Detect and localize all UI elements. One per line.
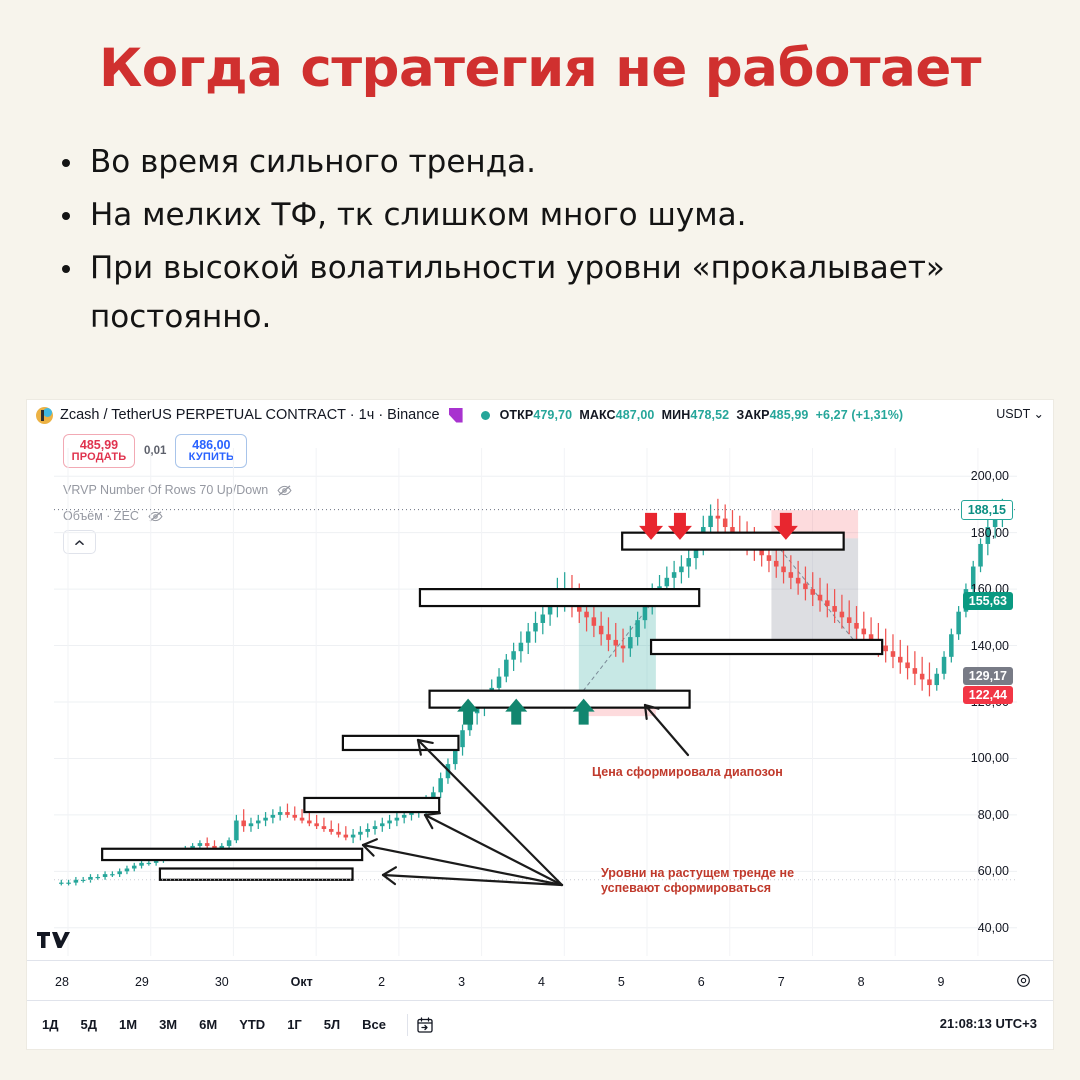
range-button[interactable]: 3М [156, 1015, 180, 1034]
price-plot-area[interactable] [54, 448, 1017, 956]
low-value: 478,52 [690, 408, 729, 422]
time-tick: 28 [55, 975, 69, 989]
candlestick-canvas [54, 448, 1017, 956]
price-badge[interactable]: 122,44 [963, 686, 1013, 704]
time-tick: 4 [538, 975, 545, 989]
price-tick: 40,00 [978, 921, 1009, 935]
price-tick: 140,00 [971, 639, 1009, 653]
bullet-list: Во время сильного тренда. На мелких ТФ, … [52, 138, 1042, 346]
range-button[interactable]: 6М [196, 1015, 220, 1034]
price-scale[interactable]: 200,00180,00160,00140,00120,00100,0080,0… [963, 448, 1053, 956]
time-tick: 9 [938, 975, 945, 989]
annotation-levels-trend: Уровни на растущем тренде не успевают сф… [601, 866, 794, 896]
close-label: ЗАКР [736, 408, 769, 422]
status-dot-icon [481, 411, 490, 420]
time-tick: 6 [698, 975, 705, 989]
time-tick: 3 [458, 975, 465, 989]
list-item: На мелких ТФ, тк слишком много шума. [52, 191, 1042, 240]
go-to-date-icon[interactable] [416, 1016, 434, 1034]
range-button[interactable]: Все [359, 1015, 389, 1034]
currency-label: USDT [996, 407, 1030, 421]
open-label: ОТКР [500, 408, 534, 422]
time-tick: Окт [291, 975, 313, 989]
open-value: 479,70 [533, 408, 572, 422]
list-item: Во время сильного тренда. [52, 138, 1042, 187]
currency-selector[interactable]: USDT ⌄ [996, 406, 1044, 421]
tradingview-logo-icon[interactable] [37, 930, 73, 952]
high-value: 487,00 [616, 408, 655, 422]
high-label: МАКС [579, 408, 615, 422]
range-button[interactable]: 1Д [39, 1015, 62, 1034]
low-label: МИН [662, 408, 691, 422]
price-badge[interactable]: 155,63 [963, 592, 1013, 610]
page-title: Когда стратегия не работает [0, 38, 1080, 99]
time-tick: 7 [778, 975, 785, 989]
chevron-down-icon: ⌄ [1034, 407, 1044, 421]
range-button[interactable]: 1М [116, 1015, 140, 1034]
range-button[interactable]: 5Л [321, 1015, 343, 1034]
time-scale[interactable]: 282930Окт23456789 [27, 960, 1053, 1001]
symbol-title[interactable]: Zcash / TetherUS PERPETUAL CONTRACT · 1ч… [60, 407, 440, 423]
price-tick: 200,00 [971, 469, 1009, 483]
clock-label: 21:08:13 UTC+3 [940, 1016, 1037, 1031]
range-button[interactable]: 1Г [284, 1015, 305, 1034]
change-value: +6,27 (+1,31%) [816, 408, 904, 422]
time-tick: 30 [215, 975, 229, 989]
price-badge[interactable]: 188,15 [961, 500, 1013, 520]
list-item: При высокой волатильности уровни «прокал… [52, 244, 1042, 342]
time-tick: 2 [378, 975, 385, 989]
price-tick: 100,00 [971, 751, 1009, 765]
close-value: 485,99 [770, 408, 809, 422]
price-tick: 180,00 [971, 526, 1009, 540]
chart-header: Zcash / TetherUS PERPETUAL CONTRACT · 1ч… [27, 400, 1053, 430]
tradingview-chart-window: Zcash / TetherUS PERPETUAL CONTRACT · 1ч… [27, 400, 1053, 1049]
range-toolbar[interactable]: 1Д5Д1М3М6МYTD1Г5ЛВсе 21:08:13 UTC+3 [27, 1000, 1053, 1048]
range-button[interactable]: YTD [236, 1015, 268, 1034]
gear-icon[interactable] [1016, 973, 1031, 988]
zcash-coin-icon [36, 407, 53, 424]
range-button[interactable]: 5Д [78, 1015, 101, 1034]
time-tick: 5 [618, 975, 625, 989]
ohlc-values: ОТКР479,70 МАКС487,00 МИН478,52 ЗАКР485,… [500, 408, 904, 422]
time-tick: 29 [135, 975, 149, 989]
toolbar-divider [407, 1014, 408, 1036]
time-tick: 8 [858, 975, 865, 989]
annotation-range-formed: Цена сформировала диапозон [592, 765, 783, 780]
price-tick: 80,00 [978, 808, 1009, 822]
source-badge-icon [449, 408, 463, 423]
poster-page: Когда стратегия не работает Во время сил… [0, 0, 1080, 1080]
price-tick: 60,00 [978, 864, 1009, 878]
price-badge[interactable]: 129,17 [963, 667, 1013, 685]
